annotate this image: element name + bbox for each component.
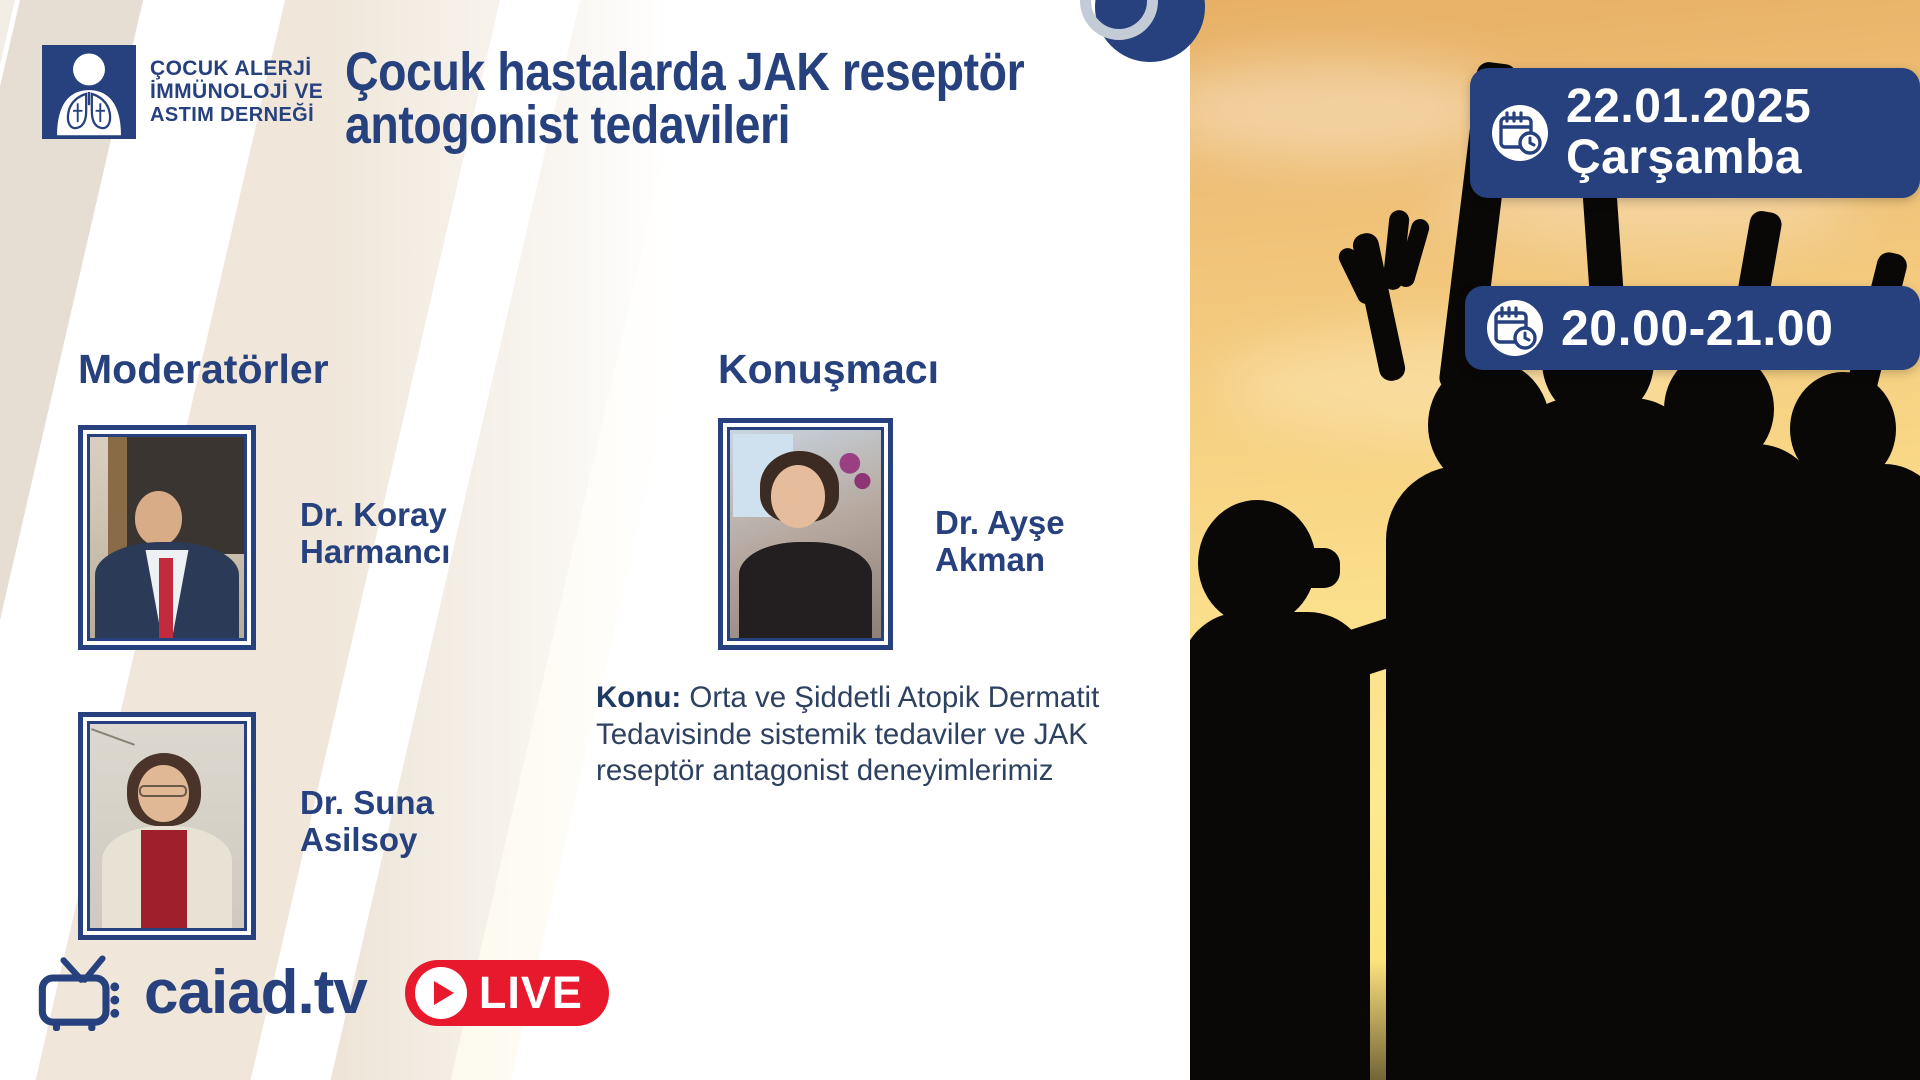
page-title: Çocuk hastalarda JAK reseptör antogonist… [345,46,1165,152]
silhouette-face [1300,548,1340,588]
moderator-name-suna-asilsoy: Dr. Suna Asilsoy [300,785,434,859]
live-badge[interactable]: LIVE [405,960,609,1026]
speaker-name-line-1: Dr. Ayşe [935,505,1065,542]
speaker-name-line-2: Akman [935,542,1065,579]
speaker-heading: Konuşmacı [718,346,939,393]
brand-bar: caiad.tv LIVE [38,955,609,1031]
organization-name: ÇOCUK ALERJİ İMMÜNOLOJİ VE ASTIM DERNEĞİ [150,58,323,126]
date-badge: 22.01.2025 Çarşamba [1470,68,1920,198]
event-day: Çarşamba [1566,133,1811,184]
org-name-line-3: ASTIM DERNEĞİ [150,105,323,126]
org-name-line-1: ÇOCUK ALERJİ [150,58,323,80]
speaker-name-ayse-akman: Dr. Ayşe Akman [935,505,1065,579]
tv-icon [38,955,128,1031]
topic-label: Konu: [596,681,681,714]
moderator-name-line-1: Dr. Suna [300,785,434,822]
cloud [1190,60,1510,160]
moderator-name-line-2: Asilsoy [300,822,434,859]
moderator-name-line-2: Harmancı [300,534,450,571]
time-badge: 20.00-21.00 [1465,286,1920,370]
moderator-name-koray-harmanci: Dr. Koray Harmancı [300,497,450,571]
moderator-photo-suna-asilsoy [78,712,256,940]
calendar-clock-icon [1487,300,1543,356]
moderators-heading: Moderatörler [78,346,329,393]
org-name-line-2: İMMÜNOLOJİ VE [150,81,323,103]
title-line-2: antogonist tedavileri [345,99,1050,152]
speaker-photo-ayse-akman [718,418,893,650]
moderator-photo-koray-harmanci [78,425,256,650]
event-date: 22.01.2025 [1566,82,1811,133]
foreground-grass [1190,960,1920,1080]
title-line-1: Çocuk hastalarda JAK reseptör [345,46,1050,99]
moderator-name-line-1: Dr. Koray [300,497,450,534]
person-lungs-icon [42,45,136,139]
topic-description: Konu: Orta ve Şiddetli Atopik Dermatit T… [596,680,1196,790]
webinar-poster: ÇOCUK ALERJİ İMMÜNOLOJİ VE ASTIM DERNEĞİ… [0,0,1920,1080]
event-time: 20.00-21.00 [1561,302,1833,355]
brand-name[interactable]: caiad.tv [144,962,367,1024]
organization-logo: ÇOCUK ALERJİ İMMÜNOLOJİ VE ASTIM DERNEĞİ [42,45,323,139]
live-label: LIVE [479,967,583,1019]
play-icon [415,967,467,1019]
silhouette-head [1198,500,1316,626]
calendar-clock-icon [1492,105,1548,161]
